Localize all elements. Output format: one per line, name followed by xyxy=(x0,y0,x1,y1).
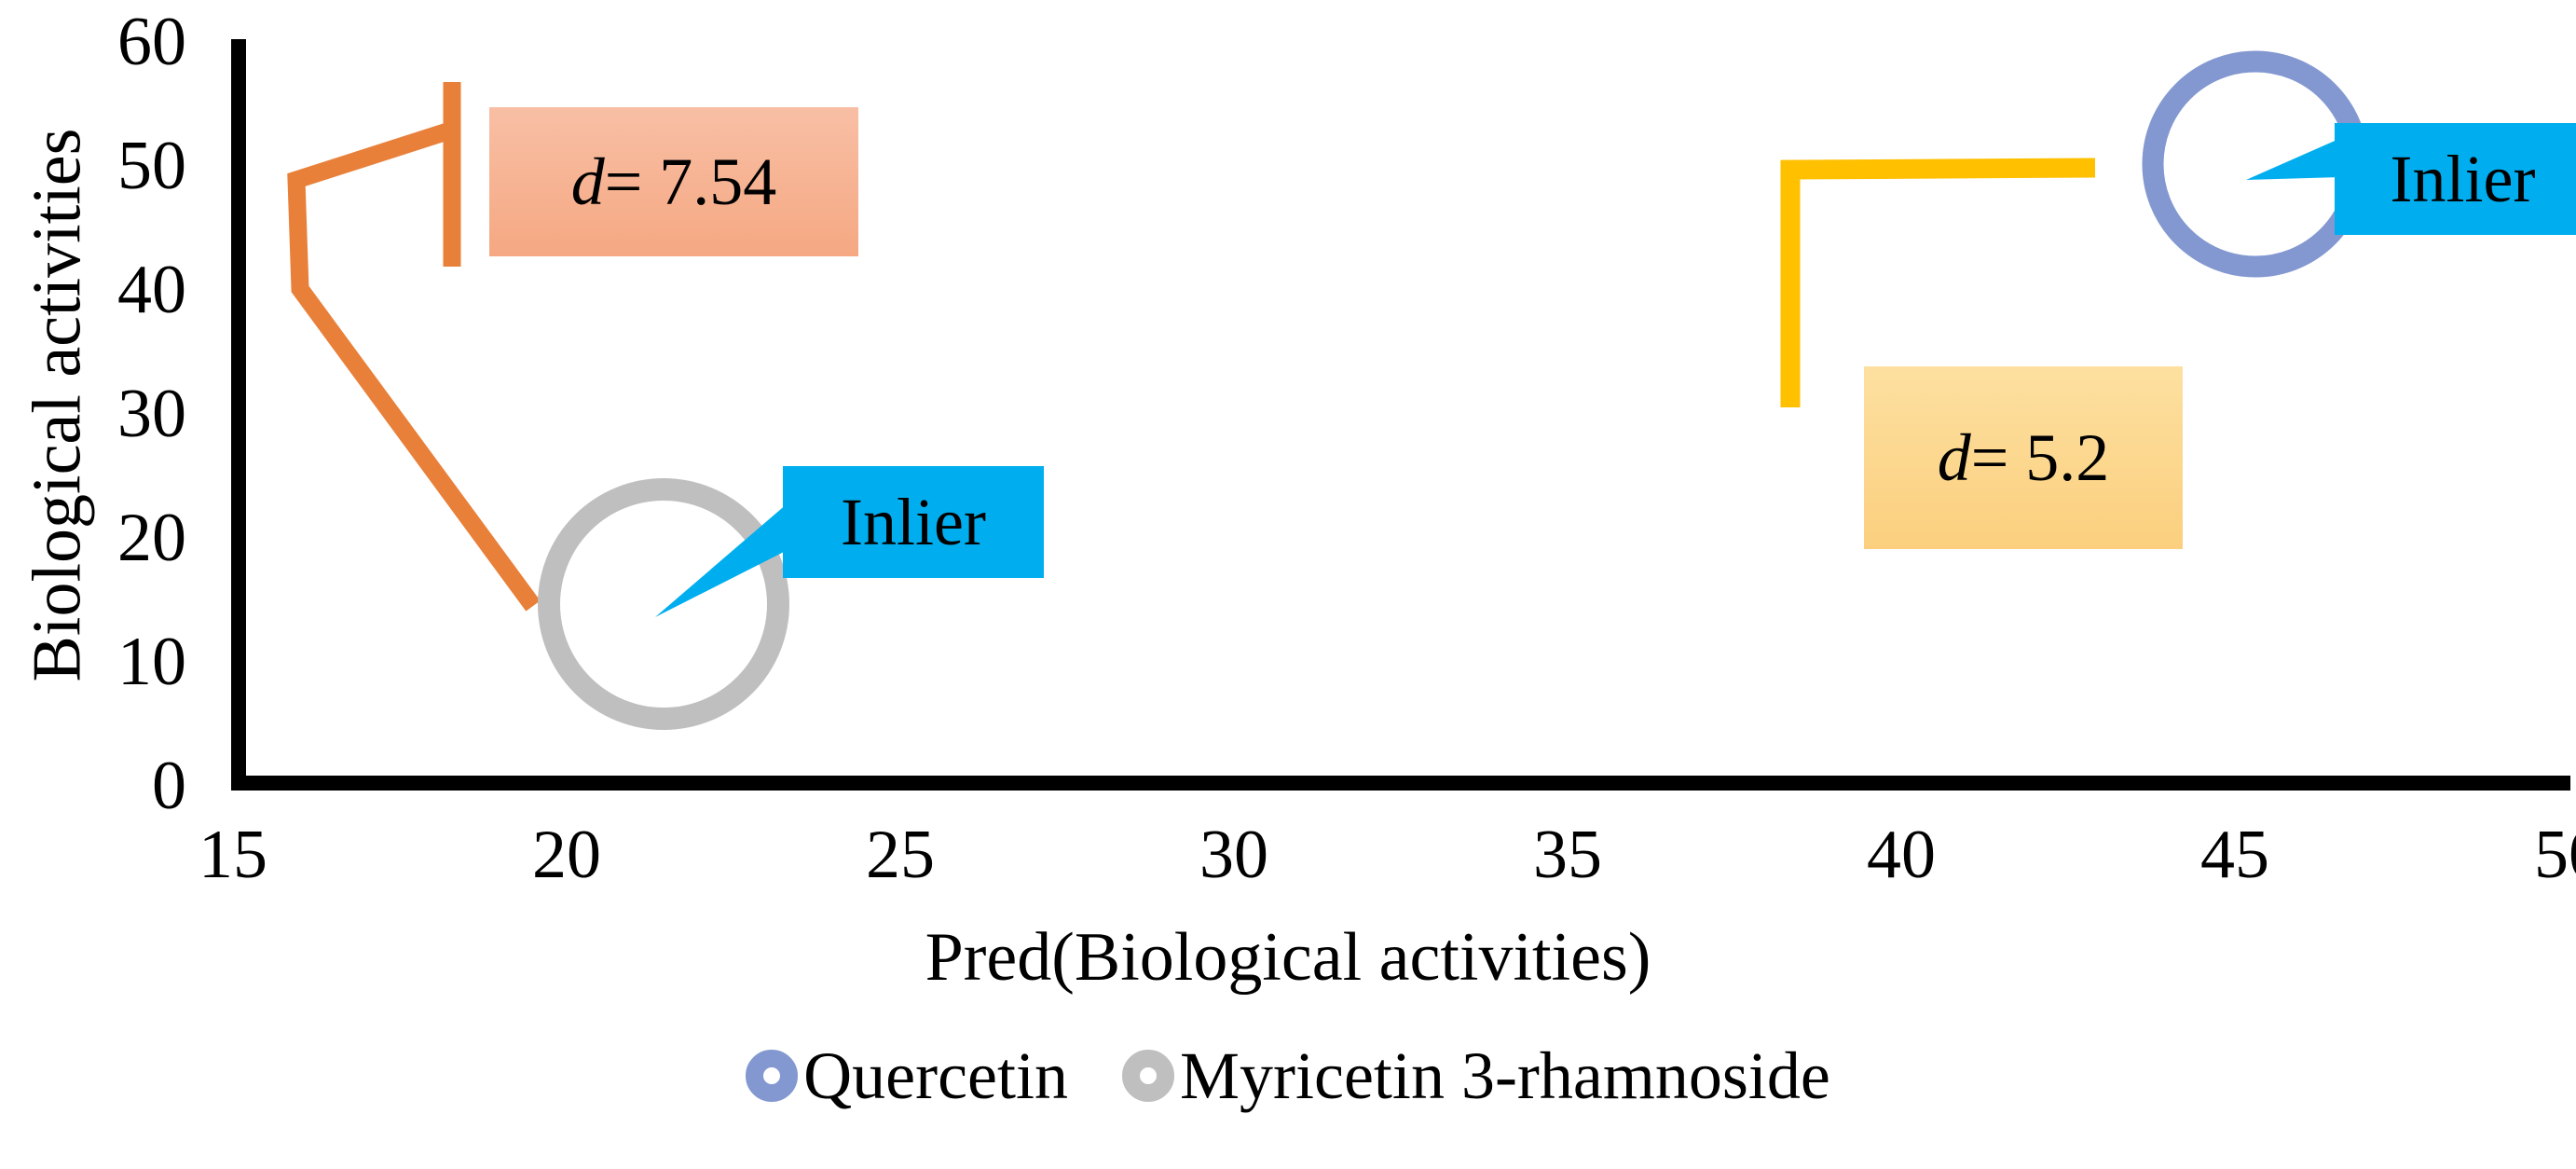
x-tick-35: 35 xyxy=(1484,820,1651,889)
legend-marker-ring-icon xyxy=(1122,1050,1174,1102)
x-tick-15: 15 xyxy=(149,820,317,889)
y-axis-title: Biological activities xyxy=(19,51,98,760)
distance-symbol-yellow: d xyxy=(1938,419,1971,497)
x-tick-40: 40 xyxy=(1817,820,1985,889)
legend-item-quercetin: Quercetin xyxy=(746,1042,1068,1109)
distance-label-orange: d = 7.54 xyxy=(489,107,858,256)
x-tick-30: 30 xyxy=(1150,820,1318,889)
inlier-pointer-blue xyxy=(2246,138,2341,180)
y-axis-spine xyxy=(231,39,246,791)
distance-value-orange: = 7.54 xyxy=(605,144,777,221)
legend-label-myricetin: Myricetin 3-rhamnoside xyxy=(1180,1042,1830,1109)
distance-label-yellow: d = 5.2 xyxy=(1864,366,2183,549)
inlier-callout-label: Inlier xyxy=(841,484,986,561)
chart-canvas: 60 50 40 30 20 10 0 15 20 25 30 35 40 45… xyxy=(0,0,2576,1169)
x-axis-title: Pred(Biological activities) xyxy=(0,918,2576,997)
distance-symbol-orange: d xyxy=(571,144,605,221)
x-tick-20: 20 xyxy=(483,820,651,889)
x-tick-45: 45 xyxy=(2151,820,2319,889)
chart-legend: Quercetin Myricetin 3-rhamnoside xyxy=(0,1042,2576,1109)
y-tick-0: 0 xyxy=(19,751,186,820)
legend-item-myricetin: Myricetin 3-rhamnoside xyxy=(1122,1042,1830,1109)
x-tick-50: 50 xyxy=(2485,820,2576,889)
inlier-callout-label: Inlier xyxy=(2391,141,2536,218)
x-axis-spine xyxy=(231,776,2570,791)
inlier-callout-myricetin: Inlier xyxy=(783,466,1044,578)
distance-value-yellow: = 5.2 xyxy=(1971,419,2110,497)
x-tick-25: 25 xyxy=(816,820,984,889)
datapoint-ring-myricetin xyxy=(549,489,778,719)
inlier-callout-quercetin: Inlier xyxy=(2335,123,2576,235)
legend-marker-ring-icon xyxy=(746,1050,798,1102)
legend-label-quercetin: Quercetin xyxy=(803,1042,1068,1109)
